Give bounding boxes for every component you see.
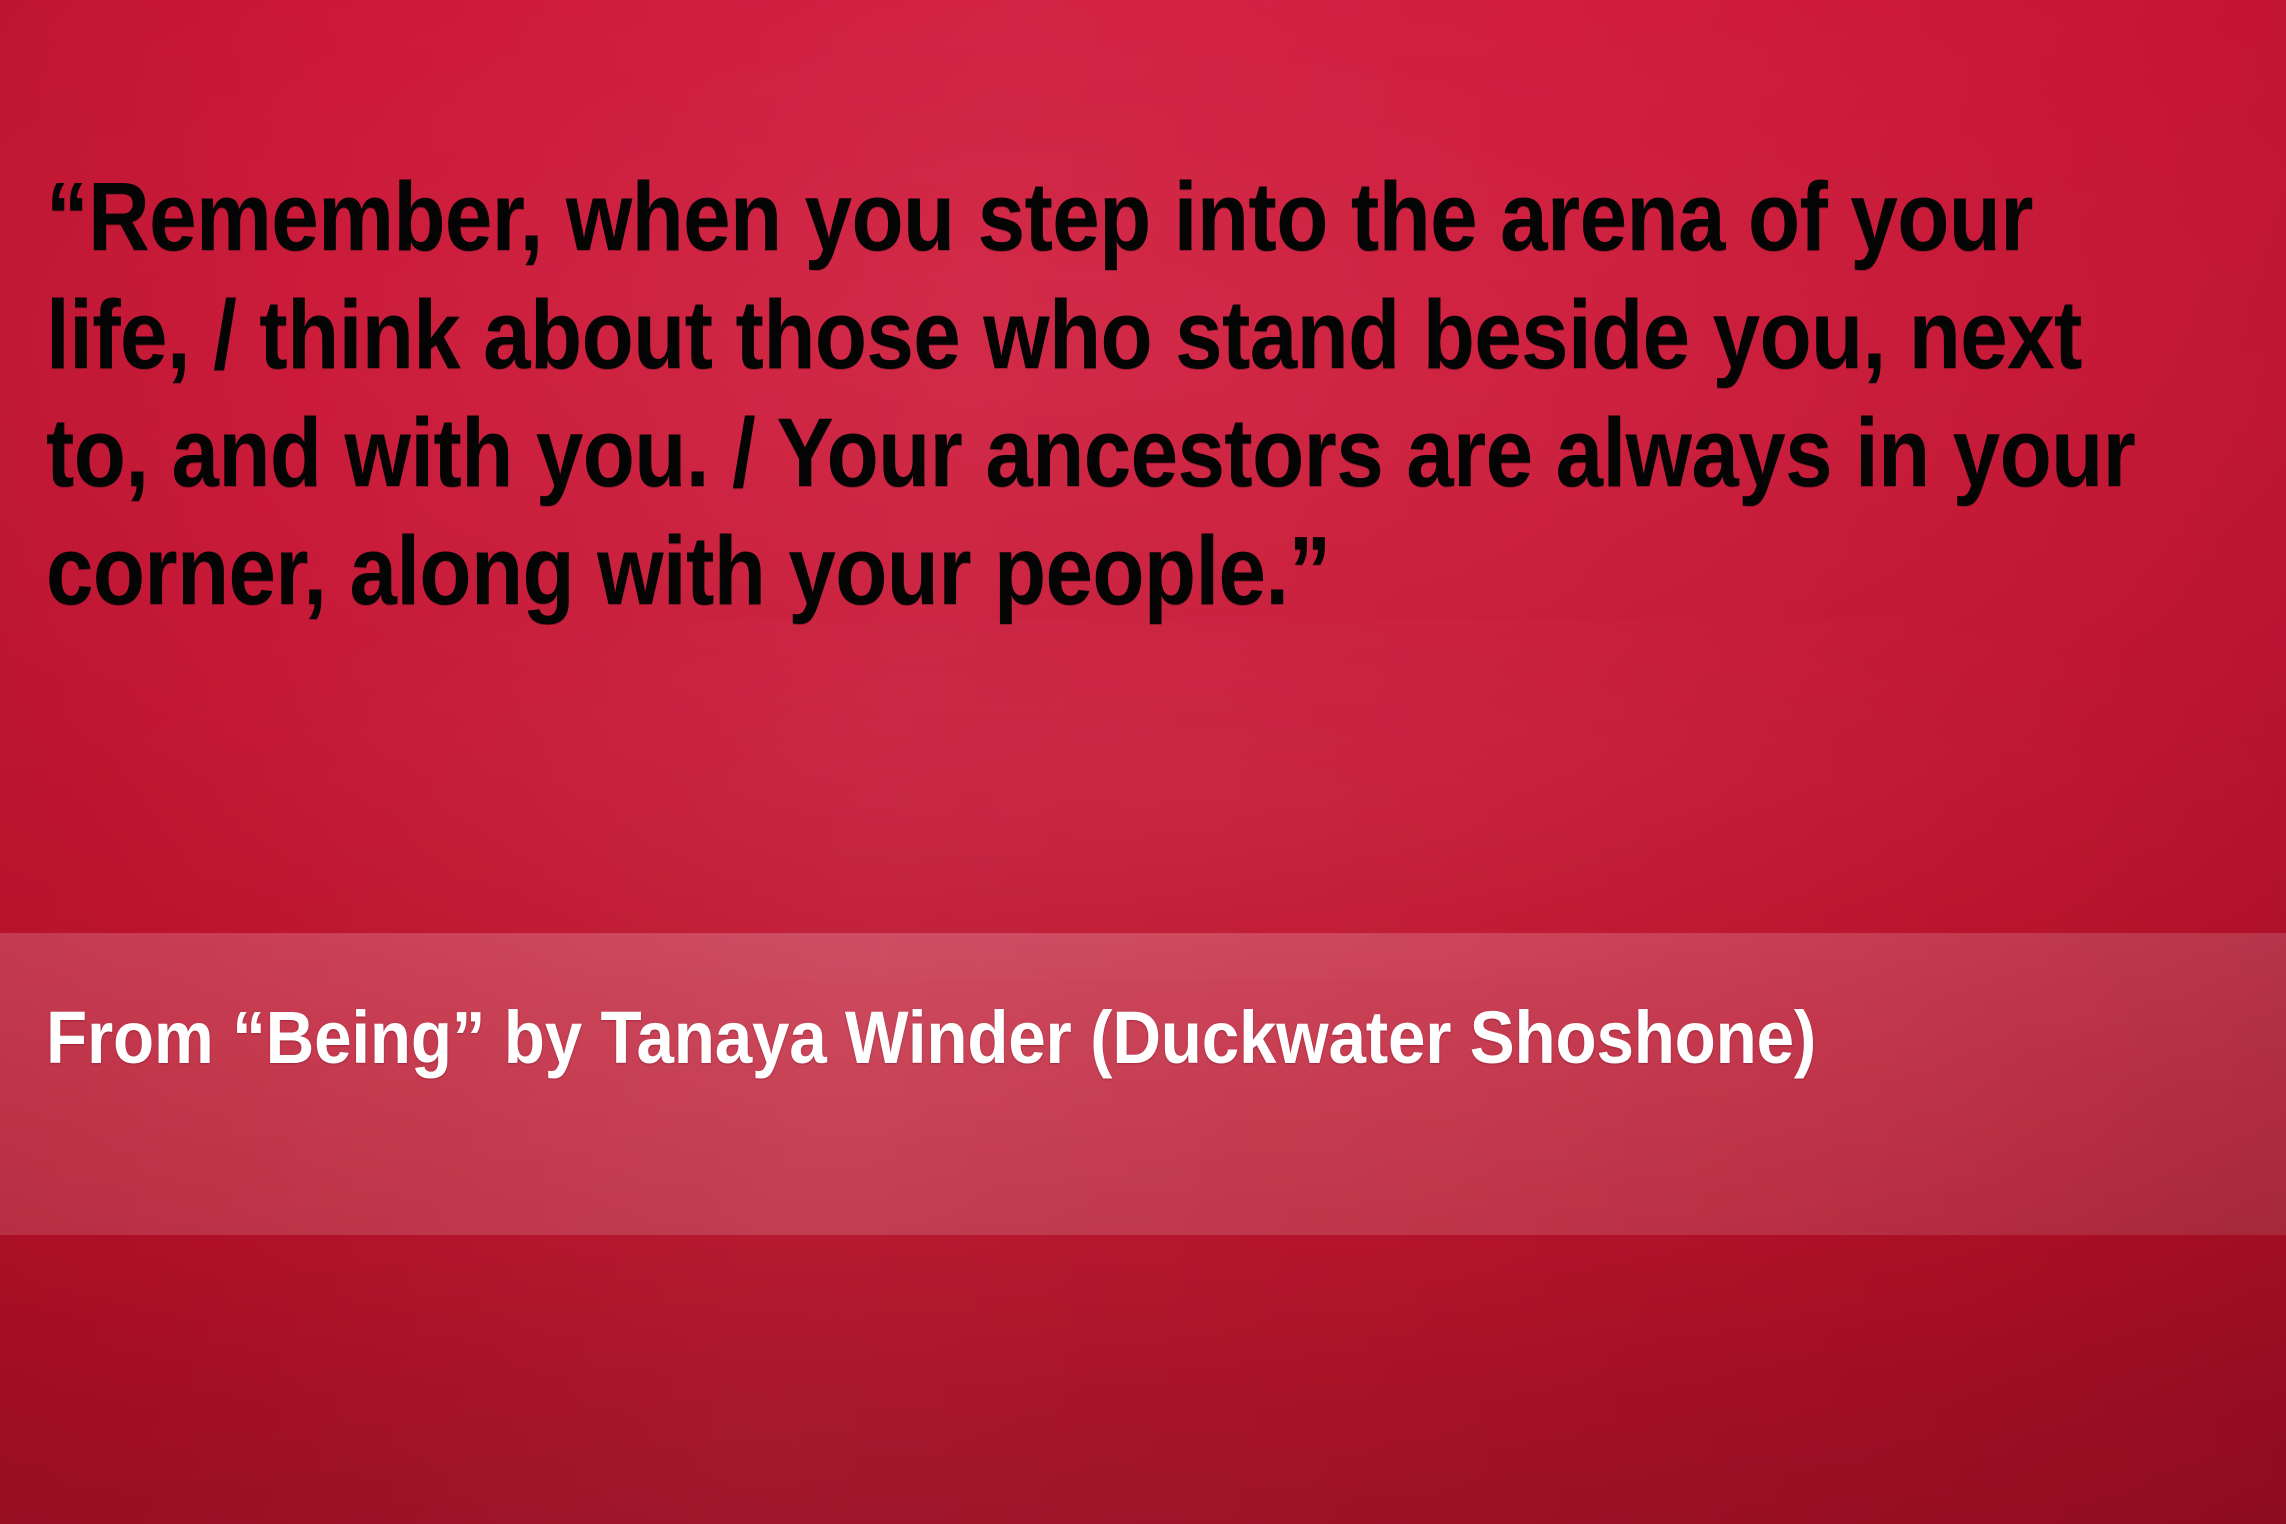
quote-line-4: corner, along with your people.”	[46, 512, 2000, 630]
attribution-band-sheen	[0, 933, 2286, 1235]
quote-line-1: “Remember, when you step into the arena …	[46, 158, 2000, 276]
quote-line-3: to, and with you. / Your ancestors are a…	[46, 394, 2000, 512]
attribution-text: From “Being” by Tanaya Winder (Duckwater…	[46, 995, 1816, 1081]
attribution-band: From “Being” by Tanaya Winder (Duckwater…	[0, 933, 2286, 1235]
quote-line-2: life, / think about those who stand besi…	[46, 276, 2000, 394]
quote-text-block: “Remember, when you step into the arena …	[46, 158, 2266, 630]
background-soft-highlight	[0, 620, 2286, 980]
quote-card: “Remember, when you step into the arena …	[0, 0, 2286, 1524]
